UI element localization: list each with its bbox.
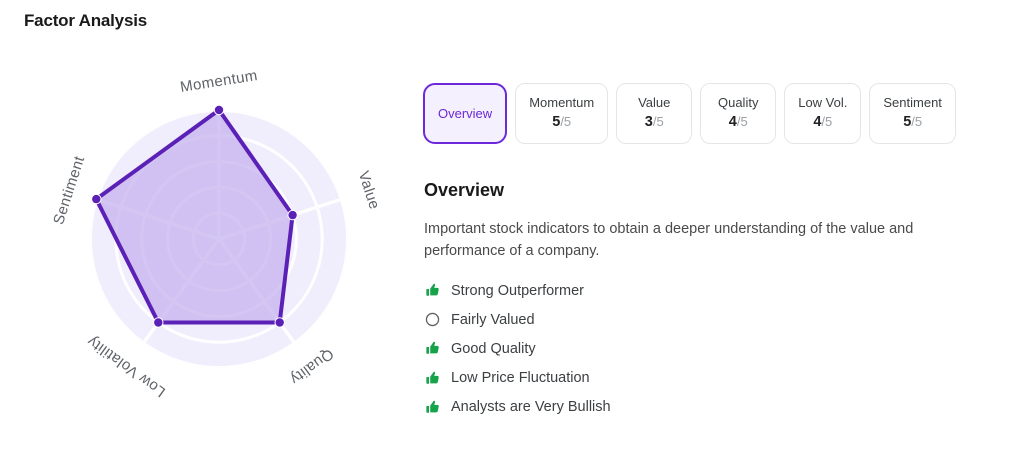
tab-score: 4/5 <box>813 113 832 133</box>
tab-score: 4/5 <box>729 113 748 133</box>
fact-row: Good Quality <box>424 334 611 363</box>
radar-axis-label-sentiment: Sentiment <box>50 153 88 226</box>
thumbs-up-icon <box>424 282 441 299</box>
details-panel: OverviewMomentum5/5Value3/5Quality4/5Low… <box>423 0 1003 454</box>
tab-score-total: /5 <box>821 114 832 129</box>
tab-label: Overview <box>438 105 492 123</box>
fact-row: Strong Outperformer <box>424 276 611 305</box>
radar-point-3[interactable] <box>154 318 162 326</box>
radar-chart: MomentumValueQualityLow VolatilitySentim… <box>55 62 385 422</box>
factor-analysis-panel: Factor Analysis MomentumValueQualityLow … <box>0 0 1024 454</box>
radar-axis-label-quality: Quality <box>287 345 337 388</box>
neutral-circle-icon <box>424 311 441 328</box>
thumbs-up-icon <box>424 370 441 387</box>
fact-label: Good Quality <box>451 341 536 357</box>
section-description: Important stock indicators to obtain a d… <box>424 218 969 262</box>
section-heading: Overview <box>424 180 504 201</box>
tab-sentiment[interactable]: Sentiment5/5 <box>869 83 956 144</box>
tab-score-total: /5 <box>737 114 748 129</box>
page-title: Factor Analysis <box>24 11 147 31</box>
tab-quality[interactable]: Quality4/5 <box>700 83 776 144</box>
fact-label: Fairly Valued <box>451 312 535 328</box>
factor-tabs: OverviewMomentum5/5Value3/5Quality4/5Low… <box>423 83 956 144</box>
tab-label: Low Vol. <box>798 94 847 112</box>
tab-value[interactable]: Value3/5 <box>616 83 692 144</box>
radar-axis-label-momentum: Momentum <box>179 67 259 96</box>
tab-score-total: /5 <box>560 114 571 129</box>
tab-label: Momentum <box>529 94 594 112</box>
tab-label: Quality <box>718 94 758 112</box>
tab-label: Value <box>638 94 670 112</box>
fact-label: Strong Outperformer <box>451 283 584 299</box>
tab-score-value: 4 <box>729 114 737 130</box>
tab-score-total: /5 <box>911 114 922 129</box>
tab-label: Sentiment <box>883 94 942 112</box>
radar-point-4[interactable] <box>92 195 100 203</box>
tab-score: 3/5 <box>645 113 664 133</box>
fact-label: Low Price Fluctuation <box>451 370 590 386</box>
fact-list: Strong OutperformerFairly ValuedGood Qua… <box>424 276 611 422</box>
tab-score-value: 3 <box>645 114 653 130</box>
fact-row: Analysts are Very Bullish <box>424 393 611 422</box>
thumbs-up-icon <box>424 340 441 357</box>
tab-score-total: /5 <box>653 114 664 129</box>
fact-row: Low Price Fluctuation <box>424 364 611 393</box>
radar-axis-label-value: Value <box>355 169 383 212</box>
radar-point-0[interactable] <box>215 106 223 114</box>
tab-score: 5/5 <box>552 113 571 133</box>
thumbs-up-icon <box>424 399 441 416</box>
radar-chart-svg: MomentumValueQualityLow VolatilitySentim… <box>55 62 385 422</box>
fact-label: Analysts are Very Bullish <box>451 399 611 415</box>
radar-point-2[interactable] <box>276 318 284 326</box>
tab-momentum[interactable]: Momentum5/5 <box>515 83 608 144</box>
fact-row: Fairly Valued <box>424 305 611 334</box>
radar-point-1[interactable] <box>288 211 296 219</box>
tab-overview[interactable]: Overview <box>423 83 507 144</box>
tab-low-vol[interactable]: Low Vol.4/5 <box>784 83 861 144</box>
tab-score: 5/5 <box>903 113 922 133</box>
